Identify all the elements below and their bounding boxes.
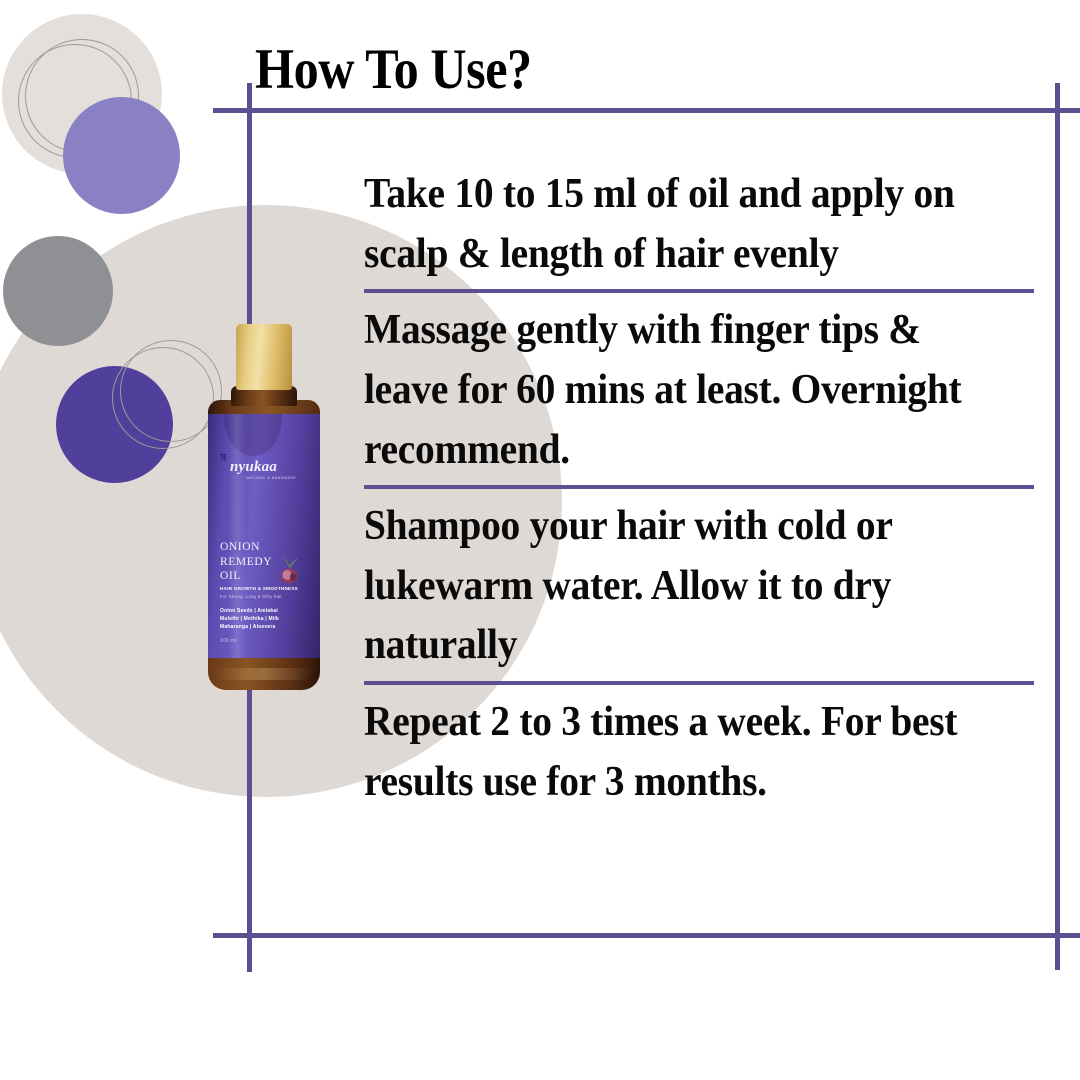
outline-ring-mid-inner bbox=[112, 347, 214, 449]
page-title: How To Use? bbox=[255, 40, 532, 100]
instruction-step: Shampoo your hair with cold or lukewarm … bbox=[364, 497, 1036, 685]
brand-tagline: NATURAL & HANDMADE bbox=[246, 477, 314, 481]
product-bottle-image: ष nyukaa NATURAL & HANDMADE ONIONREMEDYO… bbox=[200, 324, 328, 690]
step-text: Take 10 to 15 ml of oil and apply on sca… bbox=[364, 165, 996, 284]
bottle-base-highlight bbox=[214, 668, 314, 680]
instruction-step: Massage gently with finger tips & leave … bbox=[364, 301, 1036, 489]
step-text: Massage gently with finger tips & leave … bbox=[364, 301, 996, 480]
step-divider bbox=[364, 485, 1034, 489]
brand-block: ष nyukaa NATURAL & HANDMADE bbox=[218, 460, 314, 481]
frame-rule-bottom bbox=[213, 933, 1080, 938]
bottle-label: ष nyukaa NATURAL & HANDMADE ONIONREMEDYO… bbox=[208, 414, 320, 658]
purple-circle-light bbox=[63, 97, 180, 214]
frame-rule-top bbox=[213, 108, 1080, 113]
step-text: Shampoo your hair with cold or lukewarm … bbox=[364, 497, 996, 676]
instruction-step: Take 10 to 15 ml of oil and apply on sca… bbox=[364, 165, 1036, 293]
ingredient-list: Onion Seeds | AmlakaiMulethi | Methika |… bbox=[220, 608, 279, 631]
instruction-steps-list: Take 10 to 15 ml of oil and apply on sca… bbox=[364, 165, 1036, 821]
brand-name: nyukaa bbox=[230, 460, 314, 475]
step-divider bbox=[364, 681, 1034, 685]
onion-illustration bbox=[276, 556, 302, 586]
how-to-use-poster: How To Use? Take 10 to 15 ml of oil and … bbox=[0, 0, 1080, 1080]
step-text: Repeat 2 to 3 times a week. For best res… bbox=[364, 693, 996, 812]
step-divider bbox=[364, 289, 1034, 293]
instruction-step: Repeat 2 to 3 times a week. For best res… bbox=[364, 693, 1036, 821]
bottle-cap bbox=[236, 324, 292, 390]
net-volume: 100 ml bbox=[220, 638, 237, 644]
product-name: ONIONREMEDYOIL bbox=[220, 540, 272, 584]
brand-mark-icon: ष bbox=[220, 452, 226, 463]
gray-circle bbox=[3, 236, 113, 346]
product-claim: HAIR GROWTH & SMOOTHNESS bbox=[220, 586, 298, 592]
frame-rule-right bbox=[1055, 83, 1060, 970]
product-subclaim: For Strong, Long & Silky hair bbox=[220, 594, 282, 599]
